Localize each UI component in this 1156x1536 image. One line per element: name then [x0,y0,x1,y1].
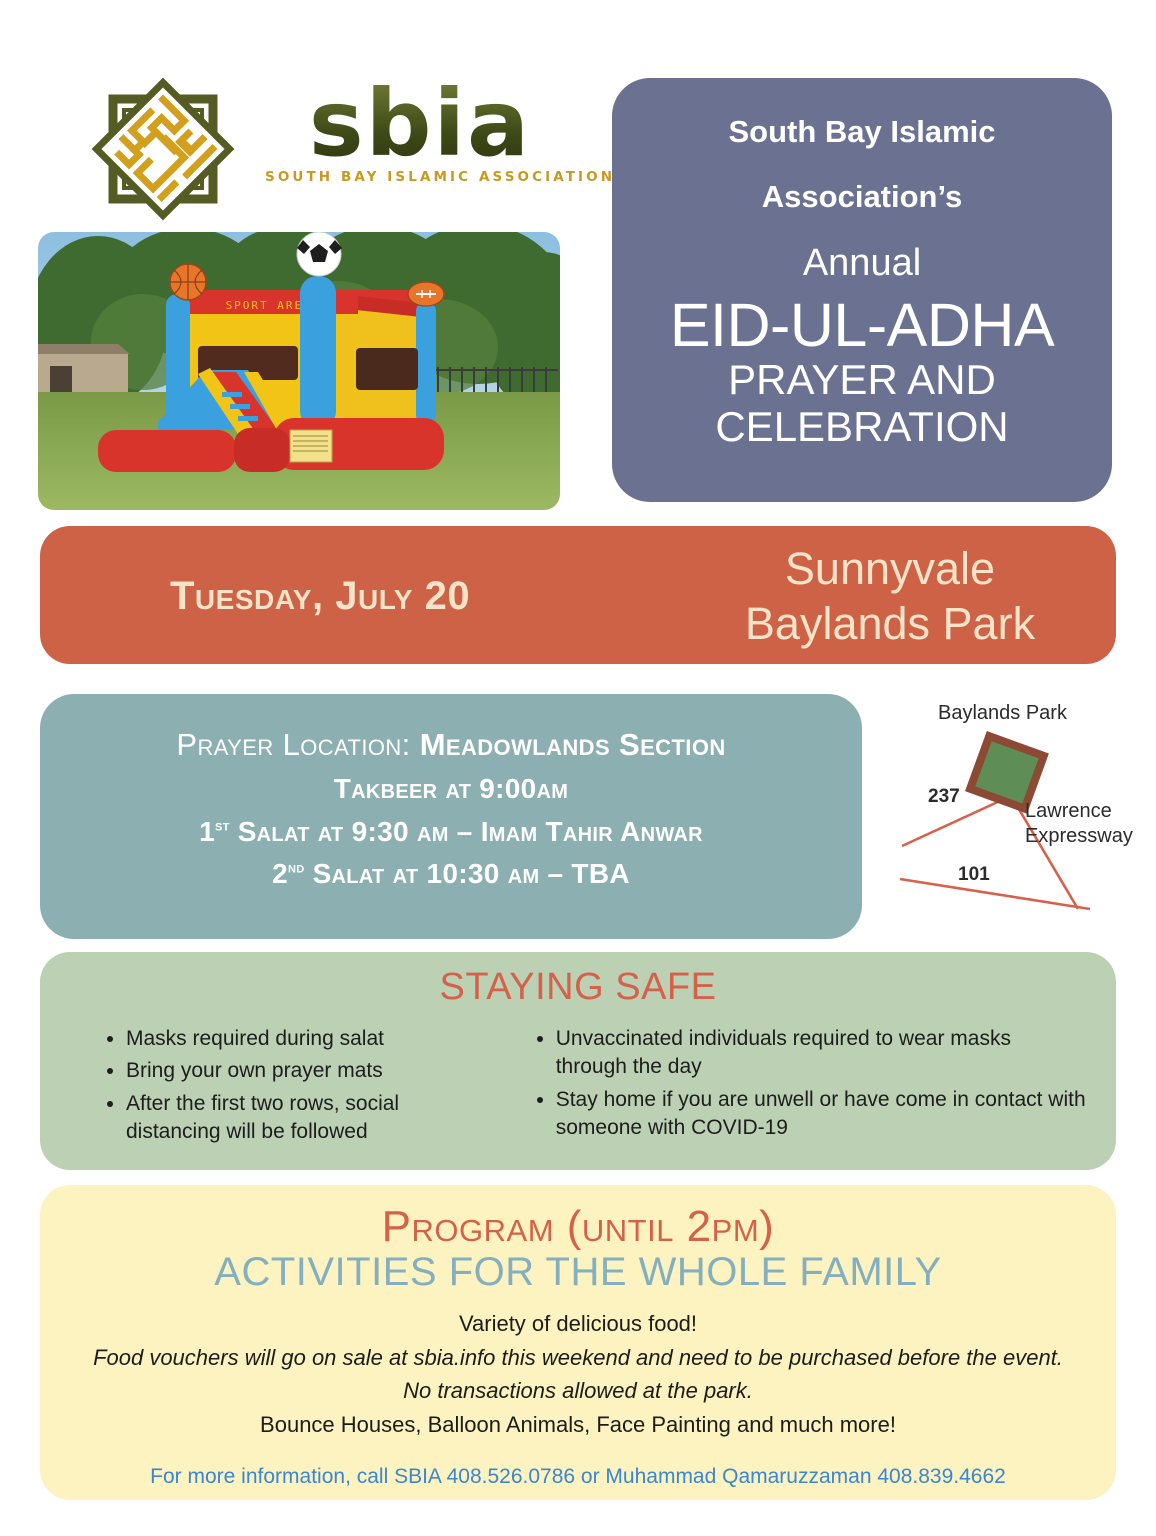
staying-safe-title: STAYING SAFE [70,966,1086,1009]
sbia-wordmark: sbia SOUTH BAY ISLAMIC ASSOCIATION [265,80,575,185]
list-item: Stay home if you are unwell or have come… [556,1086,1086,1143]
second-salat-time: 2nd Salat at 10:30 am – TBA [40,857,862,891]
lawrence-line1: Lawrence [1025,799,1133,824]
program-title: Program (until 2pm) [40,1203,1116,1251]
event-venue: Sunnyvale Baylands Park [680,542,1100,652]
lawrence-line2: Expressway [1025,824,1133,849]
sbia-wordmark-text: sbia [265,80,575,167]
program-vouchers-line: Food vouchers will go on sale at sbia.in… [40,1343,1116,1372]
org-name-line1: South Bay Islamic [630,116,1094,147]
map-route-237-label: 237 [928,786,960,808]
map-route-101-label: 101 [958,864,990,886]
map-park-label: Baylands Park [938,702,1067,725]
contact-info-line: For more information, call SBIA 408.526.… [40,1465,1116,1489]
second-salat-number: 2 [272,858,288,889]
bounce-house-photo: SPORT ARENA [38,232,560,510]
map-lawrence-expressway-label: Lawrence Expressway [1025,799,1133,849]
program-activities-line: Bounce Houses, Balloon Animals, Face Pai… [40,1410,1116,1439]
first-salat-detail: Salat at 9:30 am – Imam Tahir Anwar [230,816,703,847]
location-map: Baylands Park 237 101 Lawrence Expresswa… [890,694,1146,939]
first-salat-ordinal: st [215,816,230,834]
prayer-details-panel: Prayer Location: Meadowlands Section Tak… [40,694,862,939]
event-date: Tuesday, July 20 [170,574,470,619]
event-subtitle-line1: PRAYER AND [630,358,1094,403]
event-header-box: South Bay Islamic Association’s Annual E… [612,78,1112,502]
program-no-transactions-line: No transactions allowed at the park. [40,1376,1116,1405]
takbeer-time: Takbeer at 9:00am [40,772,862,806]
prayer-location-value: Meadowlands Section [420,727,726,762]
sbia-tagline: SOUTH BAY ISLAMIC ASSOCIATION [265,169,575,185]
list-item: Masks required during salat [126,1025,492,1053]
staying-safe-panel: STAYING SAFE Masks required during salat… [40,952,1116,1170]
safety-list-left: Masks required during salat Bring your o… [100,1025,492,1150]
prayer-location-line: Prayer Location: Meadowlands Section [40,726,862,763]
sbia-kufic-diamond-logo [88,74,238,224]
venue-park: Baylands Park [680,597,1100,652]
venue-city: Sunnyvale [680,542,1100,597]
list-item: Bring your own prayer mats [126,1057,492,1085]
first-salat-time: 1st Salat at 9:30 am – Imam Tahir Anwar [40,815,862,849]
prayer-location-label: Prayer Location: [176,727,419,762]
event-subtitle-line2: CELEBRATION [630,405,1094,450]
event-title: EID-UL-ADHA [630,294,1094,356]
program-panel: Program (until 2pm) ACTIVITIES FOR THE W… [40,1185,1116,1500]
date-location-bar: Tuesday, July 20 Sunnyvale Baylands Park [40,526,1116,664]
second-salat-detail: Salat at 10:30 am – TBA [304,858,629,889]
list-item: After the first two rows, social distanc… [126,1090,492,1147]
safety-bullet-columns: Masks required during salat Bring your o… [70,1025,1086,1150]
list-item: Unvaccinated individuals required to wea… [556,1025,1086,1082]
event-annual-label: Annual [630,244,1094,282]
logo-area: sbia SOUTH BAY ISLAMIC ASSOCIATION [70,72,570,222]
program-food-line: Variety of delicious food! [40,1309,1116,1338]
second-salat-ordinal: nd [288,859,305,877]
first-salat-number: 1 [199,816,215,847]
program-subtitle: ACTIVITIES FOR THE WHOLE FAMILY [40,1249,1116,1295]
safety-list-right: Unvaccinated individuals required to wea… [530,1025,1086,1150]
org-name-line2: Association’s [630,181,1094,212]
